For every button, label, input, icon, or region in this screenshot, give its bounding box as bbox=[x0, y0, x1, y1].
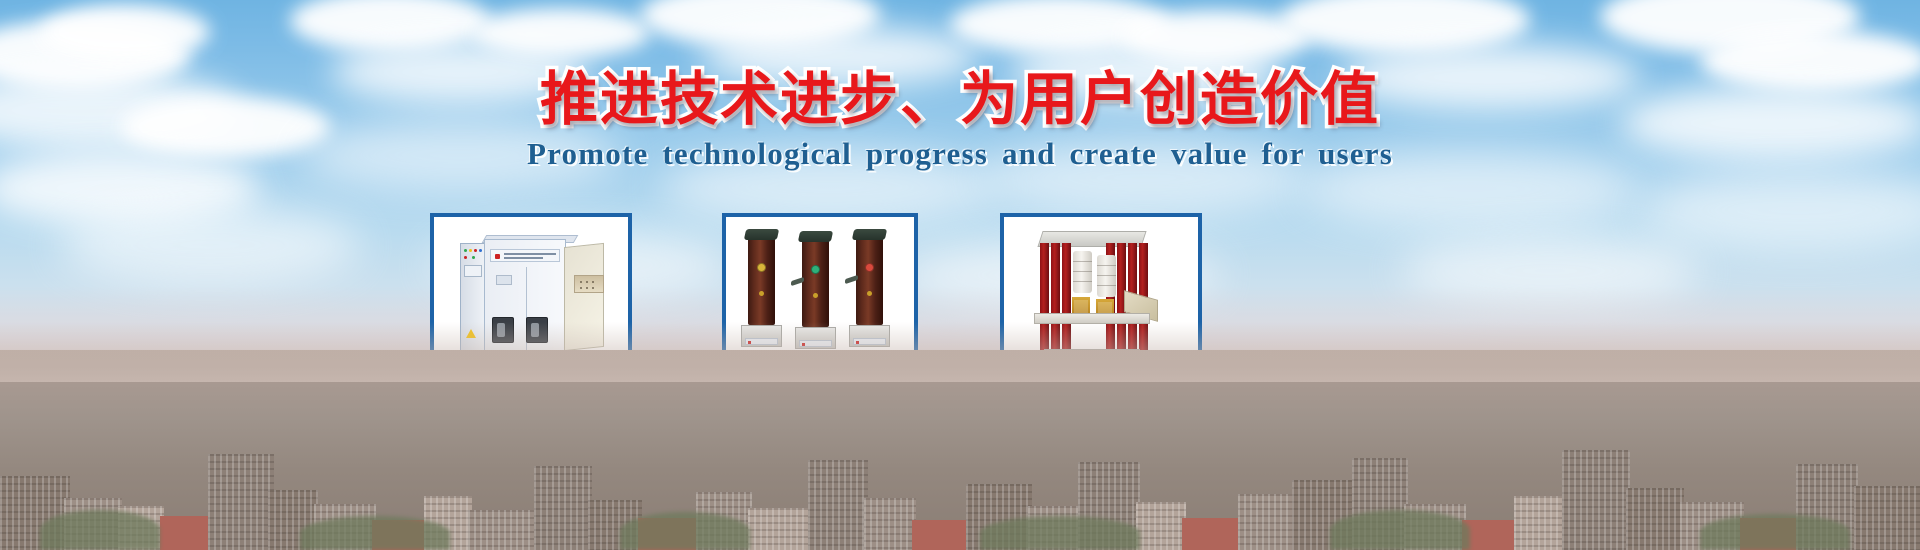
page-title: 推进技术进步、为用户创造价值 bbox=[0, 52, 1920, 136]
promotional-banner: 推进技术进步、为用户创造价值 Promote technological pro… bbox=[0, 0, 1920, 550]
urban-skyline bbox=[0, 350, 1920, 550]
bushing bbox=[1097, 255, 1116, 297]
page-subtitle: Promote technological progress and creat… bbox=[0, 136, 1920, 172]
contactor-unit bbox=[802, 239, 829, 327]
cabinet-nameplate bbox=[490, 249, 560, 262]
contactor-unit bbox=[856, 237, 883, 325]
bushing bbox=[1073, 251, 1092, 293]
contactor-unit bbox=[748, 237, 775, 325]
cabinet-indicator-lights bbox=[464, 249, 482, 263]
